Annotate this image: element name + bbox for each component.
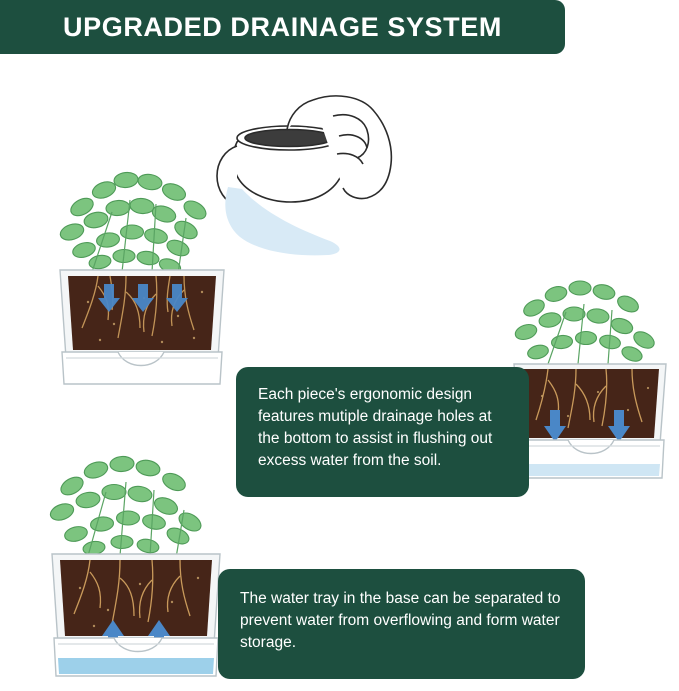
callout-water-tray: The water tray in the base can be separa… — [218, 569, 585, 679]
planter-top-left — [52, 152, 232, 397]
planter-right — [508, 268, 673, 498]
callout-drainage-holes-text: Each piece's ergonomic design features m… — [258, 384, 511, 472]
callout-water-tray-text: The water tray in the base can be separa… — [240, 588, 567, 654]
header-banner: UPGRADED DRAINAGE SYSTEM — [0, 0, 565, 54]
planter-bottom-left — [44, 440, 229, 690]
water-stream — [218, 185, 348, 265]
infographic-canvas: UPGRADED DRAINAGE SYSTEM — [0, 0, 679, 691]
water-flow-arrow — [98, 284, 188, 312]
page-title: UPGRADED DRAINAGE SYSTEM — [63, 12, 502, 43]
callout-drainage-holes: Each piece's ergonomic design features m… — [236, 367, 529, 497]
